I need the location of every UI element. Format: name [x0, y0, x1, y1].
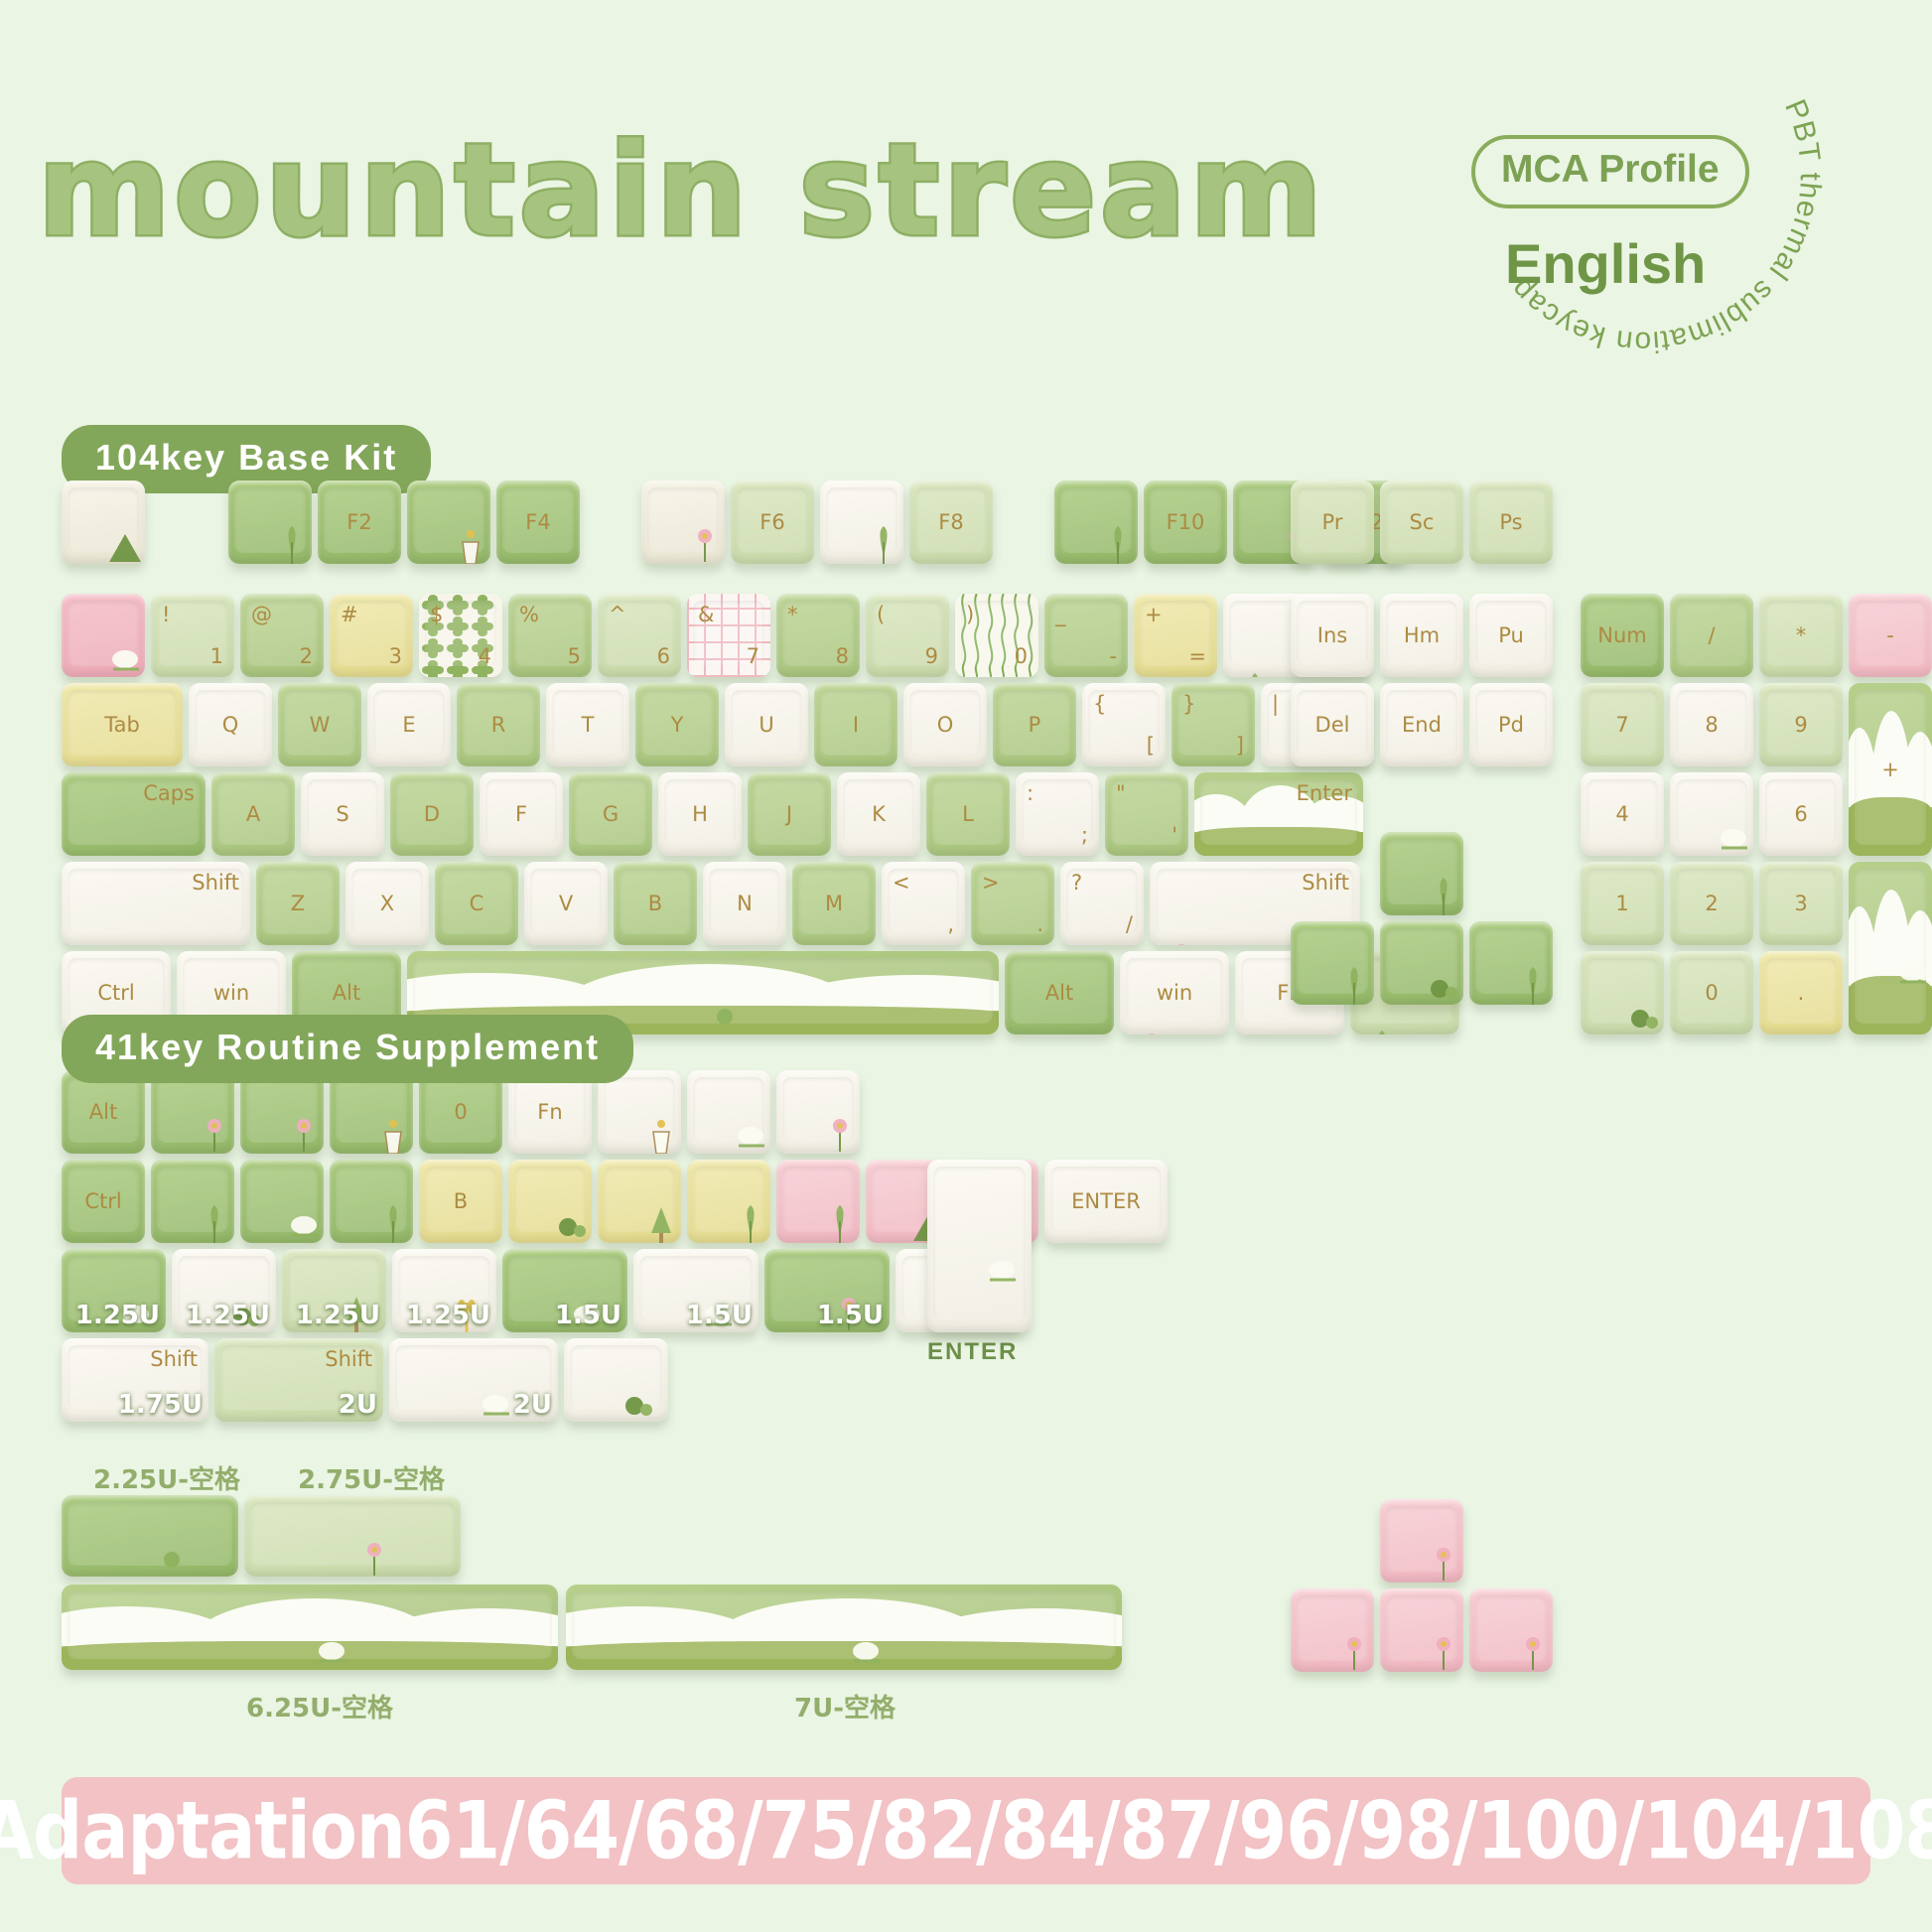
keycap-legend-bottom: ,: [947, 912, 954, 936]
keycap-legend: B: [614, 892, 697, 915]
keycap-legend: R: [457, 713, 540, 737]
keycap-unit-label: 1.75U: [118, 1390, 203, 1420]
keycap-a[interactable]: A: [211, 772, 295, 856]
keycap-end[interactable]: End: [1380, 683, 1463, 766]
keycap[interactable]: 1.5U: [502, 1249, 627, 1332]
keycap-face: [68, 601, 139, 666]
keycap[interactable]: ?/: [1060, 862, 1144, 945]
keycap[interactable]: "': [1105, 772, 1188, 856]
keycap-legend-bottom: ]: [1236, 734, 1244, 758]
keycap-legend: 0: [1670, 981, 1753, 1005]
keycap-face: [570, 1345, 662, 1411]
keycap[interactable]: [927, 1160, 1032, 1332]
page-title: mountain stream: [38, 117, 1326, 265]
pink-flowers-icon: [1130, 1027, 1173, 1035]
keycap[interactable]: (9: [866, 594, 949, 677]
keycap-shift[interactable]: Shift1.75U: [62, 1338, 208, 1422]
keycap[interactable]: *8: [776, 594, 860, 677]
keycap-legend-bottom: 4: [479, 644, 491, 668]
keycap-l[interactable]: L: [926, 772, 1010, 856]
keycap-unit-label: 2U: [513, 1390, 552, 1420]
keycap-legend-bottom: .: [1036, 912, 1043, 936]
keycap-x[interactable]: X: [345, 862, 429, 945]
keycap-alt[interactable]: Alt: [1005, 951, 1114, 1035]
adaptation-banner: Adaptation61/64/68/75/82/84/87/96/98/100…: [62, 1777, 1870, 1884]
keycap[interactable]: )0: [955, 594, 1038, 677]
keycap[interactable]: [598, 1160, 681, 1243]
keycap-f8[interactable]: F8: [909, 481, 993, 564]
keycap-ctrl[interactable]: Ctrl: [62, 1160, 145, 1243]
keycap-legend: T: [546, 713, 629, 737]
keycap-g[interactable]: G: [569, 772, 652, 856]
keycap-e[interactable]: E: [367, 683, 451, 766]
keycap[interactable]: [564, 1338, 668, 1422]
keycap-face: [1060, 487, 1132, 553]
keycap-0[interactable]: 0: [1670, 951, 1753, 1035]
keycap-unit-label: 1.25U: [406, 1301, 490, 1330]
keycap-legend: E: [367, 713, 451, 737]
keycap-legend: Tab: [62, 713, 183, 737]
keycap-legend: W: [278, 713, 361, 737]
keycap-legend-top: _: [1055, 603, 1066, 626]
keycap-legend-top: ^: [609, 603, 626, 626]
keycap-face: [514, 1167, 586, 1232]
keycap-legend-bottom: 3: [389, 644, 402, 668]
keycap-legend: G: [569, 802, 652, 826]
keycap-f4[interactable]: F4: [496, 481, 580, 564]
keycap-legend-top: &: [698, 603, 714, 626]
keycap-unit-label: 1.25U: [296, 1301, 380, 1330]
spacebar-size-caption: 6.25U-空格: [246, 1688, 393, 1725]
keycap-u[interactable]: U: [725, 683, 808, 766]
keycap[interactable]: [244, 1495, 461, 1577]
keycap[interactable]: [228, 481, 312, 564]
keycap-f[interactable]: F: [480, 772, 563, 856]
keycap[interactable]: >.: [971, 862, 1054, 945]
keycap-legend: 9: [1759, 713, 1843, 737]
keycap[interactable]: :;: [1016, 772, 1099, 856]
keycap[interactable]: [641, 481, 725, 564]
keycap-pd[interactable]: Pd: [1469, 683, 1553, 766]
keycap-legend: win: [177, 981, 286, 1005]
keycap-legend: Ins: [1291, 623, 1374, 647]
keycap-legend: +: [1849, 758, 1932, 781]
white-flowers-icon: [71, 759, 115, 766]
keycap-legend: Shift: [150, 1347, 198, 1371]
keycap-legend-top: }: [1182, 692, 1195, 716]
keycap-face: [68, 487, 139, 553]
keycap-face: [157, 1077, 228, 1143]
keycap[interactable]: <,: [882, 862, 965, 945]
keycap-face: [246, 1167, 318, 1232]
keycap[interactable]: [62, 1495, 238, 1577]
keycap[interactable]: [776, 1070, 860, 1154]
keycap-legend-bottom: 0: [1015, 644, 1028, 668]
keycap-del[interactable]: Del: [1291, 683, 1374, 766]
keycap-tab[interactable]: Tab: [62, 683, 183, 766]
keycap-s[interactable]: S: [301, 772, 384, 856]
keycap-h[interactable]: H: [658, 772, 742, 856]
keycap-legend: F4: [496, 510, 580, 534]
keycap-legend: 7: [1581, 713, 1664, 737]
keycap[interactable]: 1.25U: [392, 1249, 496, 1332]
keycap-pu[interactable]: Pu: [1469, 594, 1553, 677]
keycap-sc[interactable]: Sc: [1380, 481, 1463, 564]
keycap-face: [1475, 928, 1547, 994]
keycap-face: [157, 1167, 228, 1232]
utility-pole-icon: [1054, 1235, 1098, 1243]
keycap-face: [604, 1077, 675, 1143]
flower-bed-icon: [1160, 937, 1203, 945]
keycap-caps[interactable]: Caps: [62, 772, 206, 856]
keycap-legend: -: [1849, 623, 1932, 647]
keycap-legend: N: [703, 892, 786, 915]
keycap-legend-top: +: [1145, 603, 1163, 626]
keycap-legend: B: [419, 1189, 502, 1213]
keycap-face: [1475, 1595, 1547, 1661]
keycap-y[interactable]: Y: [635, 683, 719, 766]
keycap-legend: Pu: [1469, 623, 1553, 647]
keycap[interactable]: [566, 1585, 1122, 1670]
section-supplement-label: 41key Routine Supplement: [62, 1015, 633, 1083]
keycap[interactable]: $4: [419, 594, 502, 677]
keycap-legend-bottom: 2: [300, 644, 313, 668]
keycap-legend-bottom: 5: [568, 644, 581, 668]
keycap-legend: L: [926, 802, 1010, 826]
keycap-legend: 3: [1759, 892, 1843, 915]
keycap-legend: Enter: [1297, 781, 1352, 805]
keycap[interactable]: [1581, 951, 1664, 1035]
keycap-legend: X: [345, 892, 429, 915]
keycap-n[interactable]: N: [703, 862, 786, 945]
keycap[interactable]: @2: [240, 594, 324, 677]
keycap[interactable]: +=: [1134, 594, 1217, 677]
keycap-legend: Shift: [192, 871, 239, 895]
keycap-face: [1676, 779, 1747, 845]
keycap[interactable]: [1291, 921, 1374, 1005]
keycap-legend: Alt: [62, 1100, 145, 1124]
keycap[interactable]: [240, 1160, 324, 1243]
keycap-f2[interactable]: F2: [318, 481, 401, 564]
keycap-face: [1386, 1595, 1457, 1661]
keycap-face: [693, 1077, 764, 1143]
keycap-3[interactable]: 3: [1759, 862, 1843, 945]
keycap[interactable]: &7: [687, 594, 770, 677]
keycap-o[interactable]: O: [903, 683, 987, 766]
keycap-legend-bottom: =: [1188, 644, 1206, 668]
keycap-legend: 4: [1581, 802, 1664, 826]
keycap-legend: Shift: [1302, 871, 1349, 895]
keycap--[interactable]: +: [1849, 683, 1932, 856]
keycap[interactable]: _-: [1044, 594, 1128, 677]
keycap-face: [234, 487, 306, 553]
keycap-c[interactable]: C: [435, 862, 518, 945]
keycap[interactable]: [687, 1070, 770, 1154]
keycap-unit-label: 1.5U: [686, 1301, 753, 1330]
keycap-7[interactable]: 7: [1581, 683, 1664, 766]
keycap-legend: Z: [256, 892, 340, 915]
keycap-face: [647, 487, 719, 553]
keycap-p[interactable]: P: [993, 683, 1076, 766]
keycap-legend-top: (: [877, 603, 885, 626]
keycap-ins[interactable]: Ins: [1291, 594, 1374, 677]
keycap[interactable]: 1.5U: [764, 1249, 890, 1332]
keycap-legend-top: <: [893, 871, 910, 895]
keycap[interactable]: [1469, 1588, 1553, 1672]
keycap-2[interactable]: 2: [1670, 862, 1753, 945]
keycap-legend-bottom: [: [1147, 734, 1155, 758]
keycap-v[interactable]: V: [524, 862, 608, 945]
keycap-r[interactable]: R: [457, 683, 540, 766]
keycap[interactable]: ^6: [598, 594, 681, 677]
keycap-f10[interactable]: F10: [1144, 481, 1227, 564]
keycap-1[interactable]: 1: [1581, 862, 1664, 945]
keycap-legend: I: [814, 713, 897, 737]
keycap[interactable]: [1380, 921, 1463, 1005]
cherries-icon: [224, 1414, 268, 1422]
keycap-legend: win: [1120, 981, 1229, 1005]
keycap-face: [782, 1077, 854, 1143]
keycap-legend: F10: [1144, 510, 1227, 534]
keycap-legend: Caps: [143, 781, 195, 805]
keycap-b[interactable]: B: [419, 1160, 502, 1243]
keycap[interactable]: 2U: [389, 1338, 558, 1422]
keycap-9[interactable]: 9: [1759, 683, 1843, 766]
keycap-i[interactable]: I: [814, 683, 897, 766]
keycap-legend: P: [993, 713, 1076, 737]
keycap[interactable]: [1291, 1588, 1374, 1672]
keycap[interactable]: [62, 594, 145, 677]
keycap-legend: ENTER: [1044, 1189, 1168, 1213]
keycap-legend: C: [435, 892, 518, 915]
keycap[interactable]: 1.25U: [282, 1249, 386, 1332]
fern-grass-icon: [1233, 669, 1277, 677]
keycap-legend: V: [524, 892, 608, 915]
keycap-legend: F8: [909, 510, 993, 534]
keycap[interactable]: {[: [1082, 683, 1166, 766]
keycap-face: [68, 1591, 552, 1659]
keycap--[interactable]: -: [1849, 594, 1932, 677]
keycap[interactable]: !1: [151, 594, 234, 677]
keycap[interactable]: [62, 481, 145, 564]
keycap-face: [1297, 1595, 1368, 1661]
keycap-legend: Num: [1581, 623, 1664, 647]
keycap-4[interactable]: 4: [1581, 772, 1664, 856]
keycap-legend-bottom: 8: [836, 644, 849, 668]
keycap[interactable]: [1469, 921, 1553, 1005]
keycap-face: [782, 1167, 854, 1232]
keycap-unit-label: 2U: [339, 1390, 377, 1420]
keycap[interactable]: 1.25U: [62, 1249, 166, 1332]
keycap-legend-top: #: [341, 603, 358, 626]
keycap-face: [246, 1077, 318, 1143]
keycap-face: [693, 1167, 764, 1232]
keycap-legend-top: %: [519, 603, 539, 626]
keycap-face: [1297, 928, 1368, 994]
keycap-legend-bottom: ': [1172, 823, 1177, 847]
potato-icon: [71, 1414, 115, 1422]
keycap-legend: Del: [1291, 713, 1374, 737]
keycap-legend-bottom: 7: [747, 644, 759, 668]
keycap-win[interactable]: win: [1120, 951, 1229, 1035]
keycap[interactable]: [1054, 481, 1138, 564]
keycap-face: [572, 1591, 1116, 1659]
keycap-legend-top: >: [982, 871, 1000, 895]
keycap-legend: 2: [1670, 892, 1753, 915]
keycap[interactable]: [820, 481, 903, 564]
keycap[interactable]: [687, 1160, 770, 1243]
keycap-face: [604, 1167, 675, 1232]
keycap--[interactable]: /: [1670, 594, 1753, 677]
keycap-pr[interactable]: Pr: [1291, 481, 1374, 564]
keycap-legend: Hm: [1380, 623, 1463, 647]
keycap-t[interactable]: T: [546, 683, 629, 766]
keycap-legend-top: !: [162, 603, 170, 626]
keycap[interactable]: [407, 481, 490, 564]
yarn-ball-icon: [71, 848, 115, 856]
keycap[interactable]: [1380, 1499, 1463, 1583]
keycap[interactable]: [1380, 1588, 1463, 1672]
keycap-face: [1587, 958, 1658, 1024]
keycap-legend: Shift: [325, 1347, 372, 1371]
keycap-face: [68, 1502, 232, 1566]
keycap-shift[interactable]: Shift: [62, 862, 250, 945]
keycap-8[interactable]: 8: [1670, 683, 1753, 766]
keycap-legend: F: [480, 802, 563, 826]
keycap-legend-top: $: [430, 603, 443, 626]
spacebar-size-caption: 2.25U-空格: [93, 1459, 240, 1496]
keycap-legend: K: [837, 802, 920, 826]
keycap[interactable]: #3: [330, 594, 413, 677]
keycap-legend-top: ): [966, 603, 974, 626]
keycap[interactable]: [62, 1585, 558, 1670]
keycap-legend-top: ?: [1071, 871, 1082, 895]
keycap-legend: F6: [731, 510, 814, 534]
keycap-legend: S: [301, 802, 384, 826]
keycap[interactable]: 1.25U: [172, 1249, 276, 1332]
keycap-legend: Ctrl: [62, 981, 171, 1005]
keycap[interactable]: [776, 1160, 860, 1243]
keycap-legend: Ctrl: [62, 1189, 145, 1213]
keycap-j[interactable]: J: [748, 772, 831, 856]
keycap-6[interactable]: 6: [1759, 772, 1843, 856]
keycap-f6[interactable]: F6: [731, 481, 814, 564]
keycap-legend-top: :: [1027, 781, 1034, 805]
keycap-unit-label: 1.5U: [817, 1301, 884, 1330]
keycap-legend: 0: [419, 1100, 502, 1124]
keycap-legend: M: [792, 892, 876, 915]
adaptation-text: Adaptation61/64/68/75/82/84/87/96/98/100…: [0, 1784, 1932, 1877]
keycap-legend: Alt: [292, 981, 401, 1005]
keycap[interactable]: [598, 1070, 681, 1154]
keycap-legend-bottom: ;: [1081, 823, 1088, 847]
enter-unit-caption: ENTER: [927, 1338, 1018, 1366]
keycap-face: [826, 487, 897, 553]
keycap-q[interactable]: Q: [189, 683, 272, 766]
keycap-legend-bottom: /: [1126, 912, 1133, 936]
keycap-face: [336, 1167, 407, 1232]
keycap-legend: H: [658, 802, 742, 826]
keycap--[interactable]: *: [1759, 594, 1843, 677]
keycap-legend-top: |: [1272, 692, 1279, 716]
keycap-unit-label: 1.25U: [75, 1301, 160, 1330]
keycap-legend: O: [903, 713, 987, 737]
keycap-legend: /: [1670, 623, 1753, 647]
keycap-legend: Y: [635, 713, 719, 737]
keycap-hm[interactable]: Hm: [1380, 594, 1463, 677]
keycap[interactable]: [1380, 832, 1463, 915]
keycap[interactable]: 1.5U: [633, 1249, 759, 1332]
keycap-face: [933, 1167, 1026, 1321]
keycap-enter[interactable]: ENTER: [1044, 1160, 1168, 1243]
language-label: English: [1505, 231, 1706, 296]
keycap-z[interactable]: Z: [256, 862, 340, 945]
keycap-unit-label: 1.5U: [555, 1301, 621, 1330]
keycap-legend: .: [1759, 981, 1843, 1005]
keycap-legend: J: [748, 802, 831, 826]
spacebar-size-caption: 7U-空格: [794, 1688, 896, 1725]
keycap-legend: End: [1380, 713, 1463, 737]
keycap-legend: Alt: [1005, 981, 1114, 1005]
golden-wheat-icon: [1245, 1027, 1289, 1035]
keycap-legend: A: [211, 802, 295, 826]
keycap-face: [413, 487, 484, 553]
keycap-legend: Ps: [1469, 510, 1553, 534]
keycap-w[interactable]: W: [278, 683, 361, 766]
keycap[interactable]: }]: [1172, 683, 1255, 766]
keycap-k[interactable]: K: [837, 772, 920, 856]
keycap[interactable]: %5: [508, 594, 592, 677]
keycap-enter[interactable]: Enter: [1194, 772, 1363, 856]
keycap-legend-top: @: [251, 603, 272, 626]
keycap--[interactable]: .: [1759, 951, 1843, 1035]
keycap-legend: Fn: [508, 1100, 592, 1124]
keycap-b[interactable]: B: [614, 862, 697, 945]
keycap[interactable]: [151, 1160, 234, 1243]
spacebar-size-caption: 2.75U-空格: [298, 1459, 445, 1496]
keycap-legend: Pd: [1469, 713, 1553, 737]
keycap-d[interactable]: D: [390, 772, 474, 856]
mca-profile-badge: MCA Profile: [1471, 135, 1749, 208]
keycap-face: [250, 1502, 455, 1566]
keycap-num[interactable]: Num: [1581, 594, 1664, 677]
keycap-legend: 1: [1581, 892, 1664, 915]
keycap-legend-bottom: 1: [210, 644, 223, 668]
product-poster: mountain stream PBT thermal sublimation …: [0, 0, 1932, 1932]
keycap-legend-bottom: -: [1109, 644, 1117, 668]
cloud-birds-icon: [1015, 1027, 1058, 1035]
profile-badge-group: PBT thermal sublimation keycap MCA Profi…: [1444, 58, 1870, 345]
keycap-ps[interactable]: Ps: [1469, 481, 1553, 564]
keycap-legend: 6: [1759, 802, 1843, 826]
keycap[interactable]: [330, 1160, 413, 1243]
keycap-legend: *: [1759, 623, 1843, 647]
keycap-m[interactable]: M: [792, 862, 876, 945]
keycap-legend: Pr: [1291, 510, 1374, 534]
keycap-legend: Q: [189, 713, 272, 737]
keycap-face: [1386, 1506, 1457, 1572]
keycap[interactable]: [508, 1160, 592, 1243]
keycap-face: [1386, 928, 1457, 994]
keycap-legend-bottom: 6: [657, 644, 670, 668]
keycap-shift[interactable]: Shift2U: [214, 1338, 383, 1422]
keycap-legend: D: [390, 802, 474, 826]
keycap-face: [1855, 869, 1926, 1024]
keycap[interactable]: [1670, 772, 1753, 856]
keycap[interactable]: [1849, 862, 1932, 1035]
keycap-legend-top: ": [1116, 781, 1126, 805]
keycap-unit-label: 1.25U: [186, 1301, 270, 1330]
